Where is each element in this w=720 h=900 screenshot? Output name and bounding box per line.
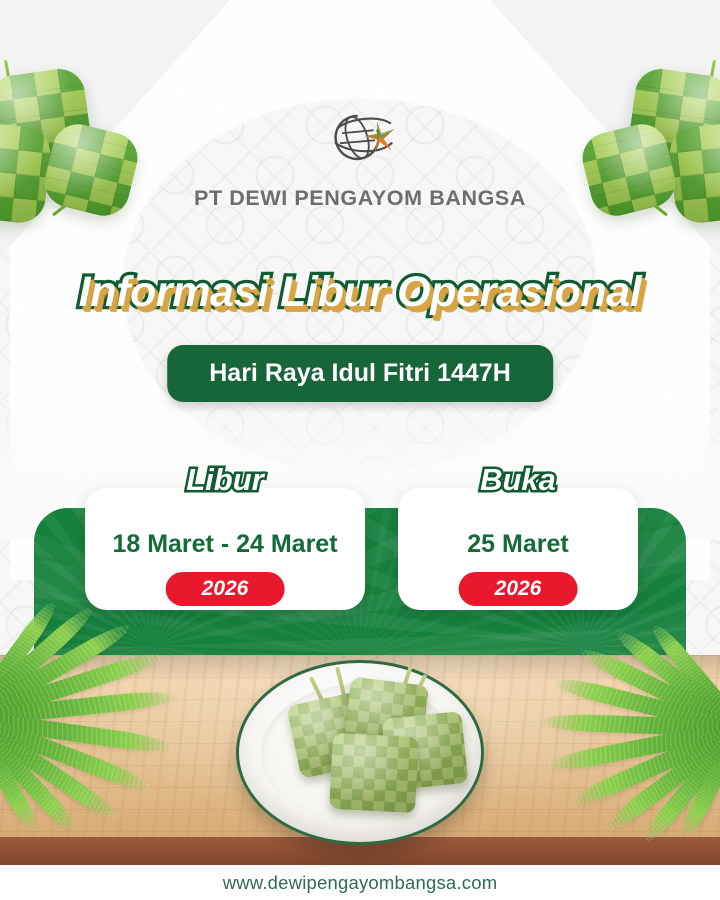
card-heading-buka: Buka: [398, 462, 638, 498]
schedule-cards: Libur 18 Maret - 24 Maret 2026 Buka 25 M…: [0, 488, 720, 618]
globe-star-logo-icon: [317, 100, 403, 172]
subtitle-badge: Hari Raya Idul Fitri 1447H: [167, 345, 553, 402]
ketupat-icon: [329, 733, 419, 813]
poster-canvas: PT DEWI PENGAYOM BANGSA Informasi Libur …: [0, 0, 720, 900]
card-date-libur: 18 Maret - 24 Maret: [85, 530, 365, 559]
brand-name: PT DEWI PENGAYOM BANGSA: [194, 186, 526, 211]
year-badge-buka: 2026: [459, 572, 578, 606]
card-heading-libur: Libur: [85, 462, 365, 498]
year-badge-libur: 2026: [166, 572, 285, 606]
schedule-card-buka: Buka 25 Maret 2026: [398, 488, 638, 610]
brand-header: PT DEWI PENGAYOM BANGSA: [0, 100, 720, 211]
website-url[interactable]: www.dewipengayombangsa.com: [223, 872, 498, 894]
schedule-card-libur: Libur 18 Maret - 24 Maret 2026: [85, 488, 365, 610]
card-date-buka: 25 Maret: [398, 530, 638, 559]
footer-bar: www.dewipengayombangsa.com: [0, 865, 720, 900]
page-title: Informasi Libur Operasional: [0, 268, 720, 317]
plate-of-ketupat-icon: [236, 660, 484, 845]
